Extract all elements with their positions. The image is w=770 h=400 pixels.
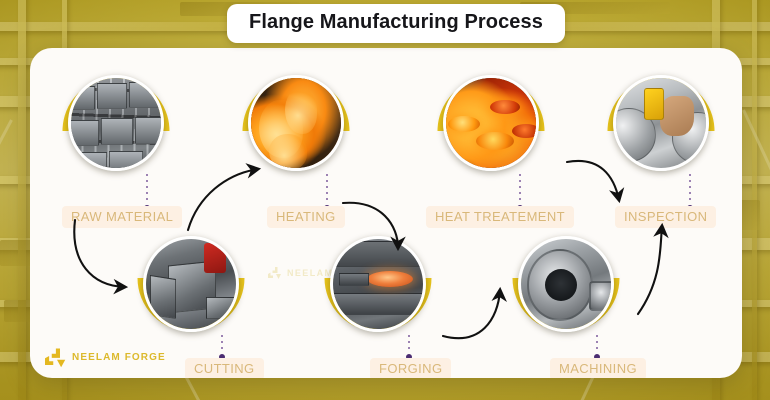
forge-arrows-icon <box>266 266 282 280</box>
photo-steel-billets <box>68 75 164 171</box>
process-card: NEELAM FORGE <box>30 48 742 378</box>
label-inspection: INSPECTION <box>615 206 716 228</box>
photo-hot-flange-press <box>330 236 426 332</box>
arrow-cutting-to-heating <box>188 169 258 230</box>
title-banner: Flange Manufacturing Process <box>227 4 565 43</box>
brand-logo: NEELAM FORGE <box>42 347 166 368</box>
label-heating: HEATING <box>267 206 345 228</box>
label-cutting: CUTTING <box>185 358 264 378</box>
page-title: Flange Manufacturing Process <box>249 11 543 34</box>
photo-furnace-flames <box>248 75 344 171</box>
arrow-raw-to-cutting <box>74 220 125 287</box>
brand-name: NEELAM FORGE <box>72 352 166 363</box>
arrow-forging-to-machining <box>443 290 500 338</box>
label-heat-treatement: HEAT TREATEMENT <box>426 206 574 228</box>
arrow-machining-to-heattreat <box>638 226 662 314</box>
label-forging: FORGING <box>370 358 451 378</box>
forge-arrows-icon <box>42 347 66 368</box>
photo-glowing-flanges <box>443 75 539 171</box>
photo-lathe-boring <box>518 236 614 332</box>
photo-billet-cutting <box>143 236 239 332</box>
label-machining: MACHINING <box>550 358 646 378</box>
label-raw-material: RAW MATERIAL <box>62 206 182 228</box>
photo-flange-measurement <box>613 75 709 171</box>
